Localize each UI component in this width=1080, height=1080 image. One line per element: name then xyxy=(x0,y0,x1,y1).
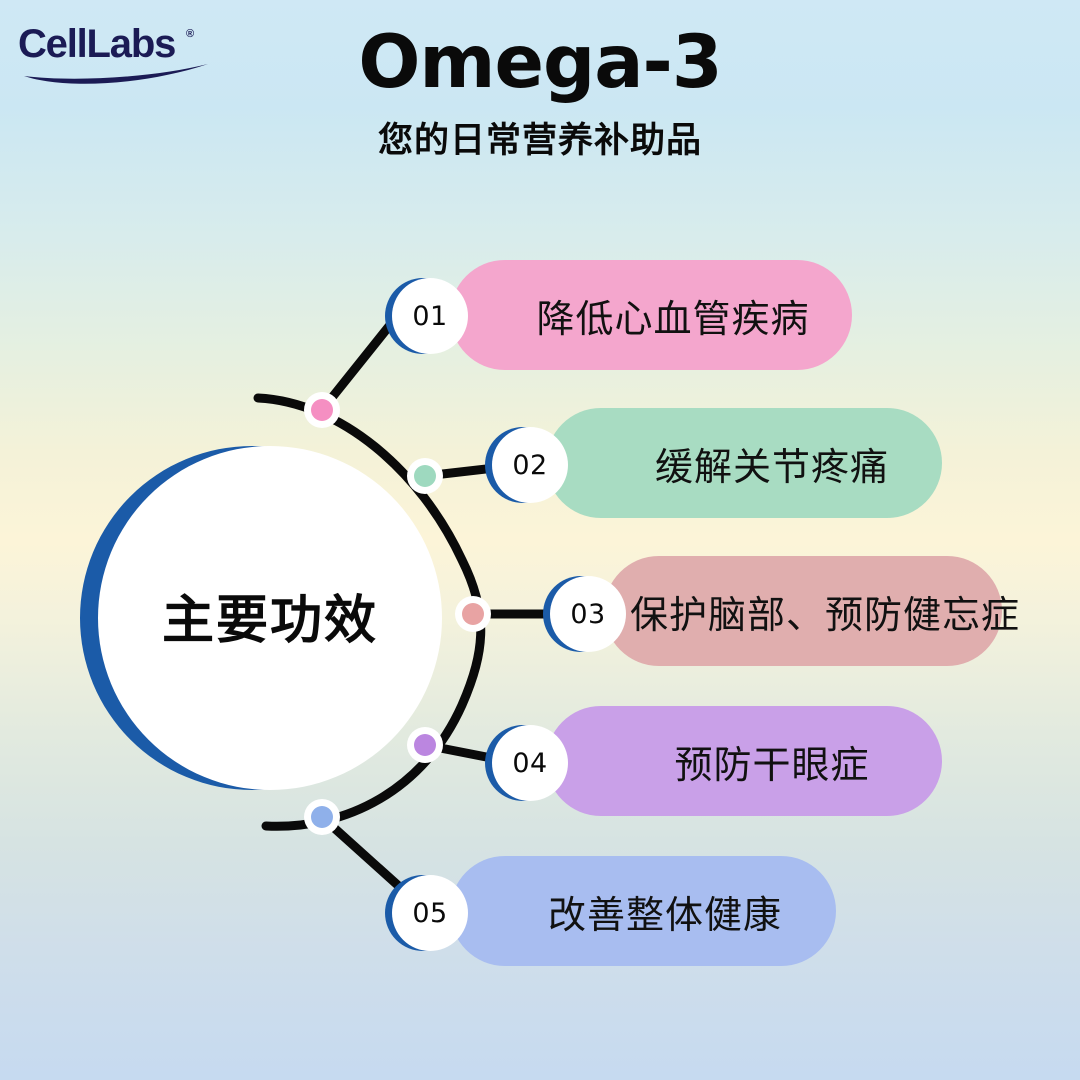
benefit-badge-02[interactable]: 02 xyxy=(492,427,568,503)
badge-number-01: 01 xyxy=(412,301,447,332)
arc-node-dot-02 xyxy=(414,465,436,487)
badge-number-05: 05 xyxy=(412,898,447,929)
benefit-label-02: 缓解关节疼痛 xyxy=(655,436,889,491)
benefit-badge-04[interactable]: 04 xyxy=(492,725,568,801)
arc-node-dot-03 xyxy=(462,603,484,625)
benefit-pill-03[interactable]: 保护脑部、预防健忘症 xyxy=(604,556,1002,666)
benefit-badge-05[interactable]: 05 xyxy=(392,875,468,951)
benefit-label-01: 降低心血管疾病 xyxy=(536,288,809,343)
arc-node-dot-01 xyxy=(311,399,333,421)
arc-node-dot-05 xyxy=(311,806,333,828)
badge-disc-05: 05 xyxy=(392,875,468,951)
badge-disc-01: 01 xyxy=(392,278,468,354)
arc-node-02 xyxy=(407,458,443,494)
arc-node-01 xyxy=(304,392,340,428)
badge-disc-03: 03 xyxy=(550,576,626,652)
benefit-pill-01[interactable]: 降低心血管疾病 xyxy=(450,260,852,370)
benefit-badge-03[interactable]: 03 xyxy=(550,576,626,652)
benefit-pill-05[interactable]: 改善整体健康 xyxy=(450,856,836,966)
arc-node-03 xyxy=(455,596,491,632)
arc-node-05 xyxy=(304,799,340,835)
badge-number-03: 03 xyxy=(570,599,605,630)
badge-disc-04: 04 xyxy=(492,725,568,801)
benefit-badge-01[interactable]: 01 xyxy=(392,278,468,354)
benefit-pill-02[interactable]: 缓解关节疼痛 xyxy=(546,408,942,518)
badge-number-02: 02 xyxy=(512,450,547,481)
benefit-label-04: 预防干眼症 xyxy=(674,734,869,789)
benefit-label-03: 保护脑部、预防健忘症 xyxy=(630,584,1020,639)
benefit-pill-04[interactable]: 预防干眼症 xyxy=(546,706,942,816)
badge-disc-02: 02 xyxy=(492,427,568,503)
benefit-label-05: 改善整体健康 xyxy=(548,884,782,939)
arc-node-dot-04 xyxy=(414,734,436,756)
badge-number-04: 04 xyxy=(512,748,547,779)
hub-label: 主要功效 xyxy=(100,578,440,653)
arc-node-04 xyxy=(407,727,443,763)
